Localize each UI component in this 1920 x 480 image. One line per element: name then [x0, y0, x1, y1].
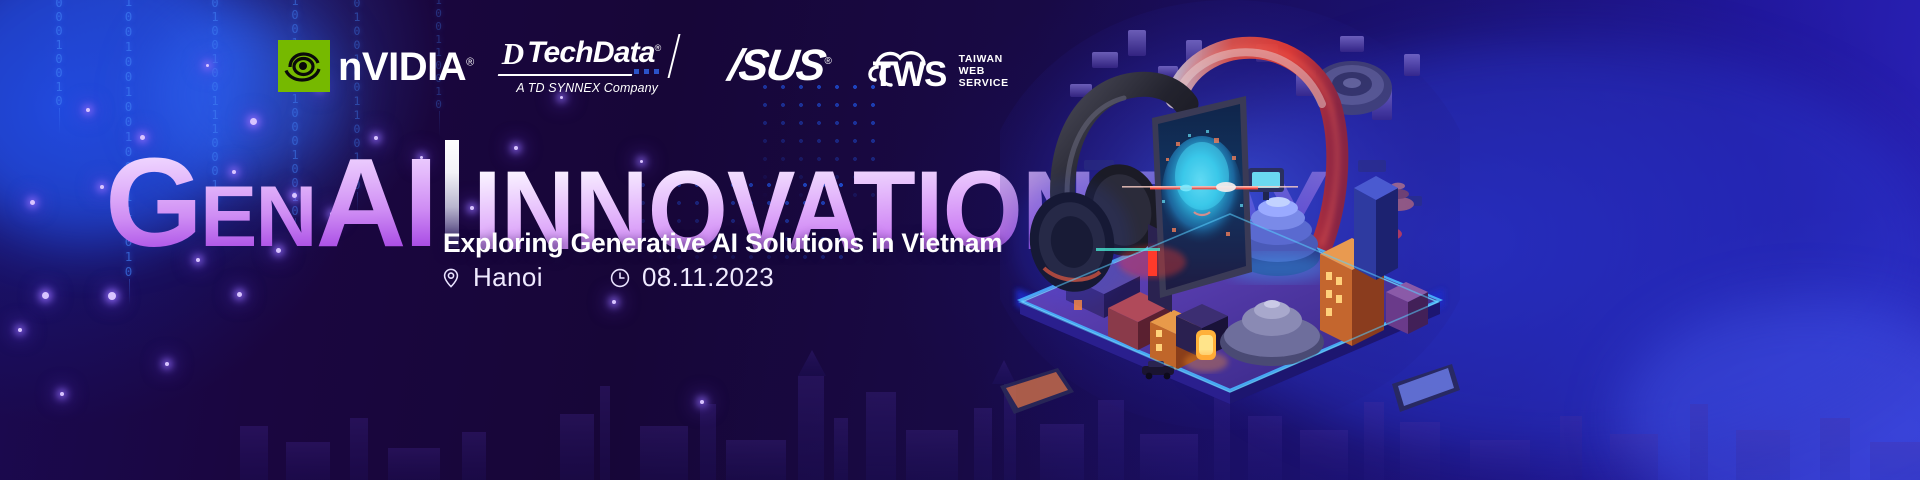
glow-particle: [42, 292, 49, 299]
glow-particle: [206, 64, 209, 67]
event-meta-row: Hanoi 08.11.2023: [440, 262, 774, 293]
glow-particle: [108, 292, 116, 300]
tws-cloud-lockup: TWS: [867, 40, 953, 92]
event-date: 08.11.2023: [609, 262, 774, 293]
tech-data-tagline: A TD SYNNEX Company: [516, 81, 658, 95]
tech-data-registered-mark: ®: [655, 43, 661, 53]
title-genai-g: G: [105, 132, 200, 273]
tech-data-dots: [634, 69, 659, 74]
event-location: Hanoi: [440, 262, 543, 293]
ai-isometric-city-illustration: [1000, 0, 1460, 440]
title-genai: GENAI: [105, 151, 435, 254]
title-genai-en: EN: [200, 169, 315, 265]
tech-data-lockup: D TechData®: [502, 38, 673, 69]
nvidia-wordmark: nVIDIA®: [338, 47, 474, 87]
title-genai-ai: AI: [315, 132, 435, 273]
sponsor-logo-bar: nVIDIA® D TechData® A TD SYNNEX Company …: [278, 36, 1009, 96]
glow-particle: [612, 300, 616, 304]
nvidia-registered-mark: ®: [466, 57, 474, 69]
asus-wordmark: /SUS®: [725, 44, 831, 88]
location-pin-icon: [440, 267, 462, 289]
tech-data-wordmark: TechData®: [527, 38, 660, 68]
event-date-label: 08.11.2023: [642, 262, 774, 293]
glow-particle: [560, 96, 563, 99]
glow-particle: [237, 292, 242, 297]
asus-registered-mark: ®: [824, 57, 829, 67]
nvidia-eye-icon: [278, 40, 330, 92]
glow-particle: [100, 185, 104, 189]
glow-particle: [250, 118, 257, 125]
event-location-label: Hanoi: [473, 262, 543, 293]
city-silhouette: [0, 330, 1920, 480]
page-subtitle: Exploring Generative AI Solutions in Vie…: [443, 228, 1003, 259]
glow-particle: [86, 108, 90, 112]
clock-icon: [609, 267, 631, 289]
tech-data-monogram: D: [502, 38, 523, 69]
tech-data-underline: [497, 74, 631, 76]
tws-wordmark: TWS: [873, 57, 946, 92]
logo-asus[interactable]: /SUS®: [729, 44, 829, 88]
logo-nvidia[interactable]: nVIDIA®: [278, 40, 474, 92]
tech-data-slash: [667, 34, 680, 78]
event-banner: 0001001010010010010011100100100100111000…: [0, 0, 1920, 480]
logo-tws[interactable]: TWS TAIWAN WEB SERVICE: [867, 40, 1009, 92]
glow-particle: [30, 200, 35, 205]
logo-tech-data[interactable]: D TechData® A TD SYNNEX Company: [502, 38, 673, 95]
binary-stream: 00010010: [52, 0, 65, 108]
